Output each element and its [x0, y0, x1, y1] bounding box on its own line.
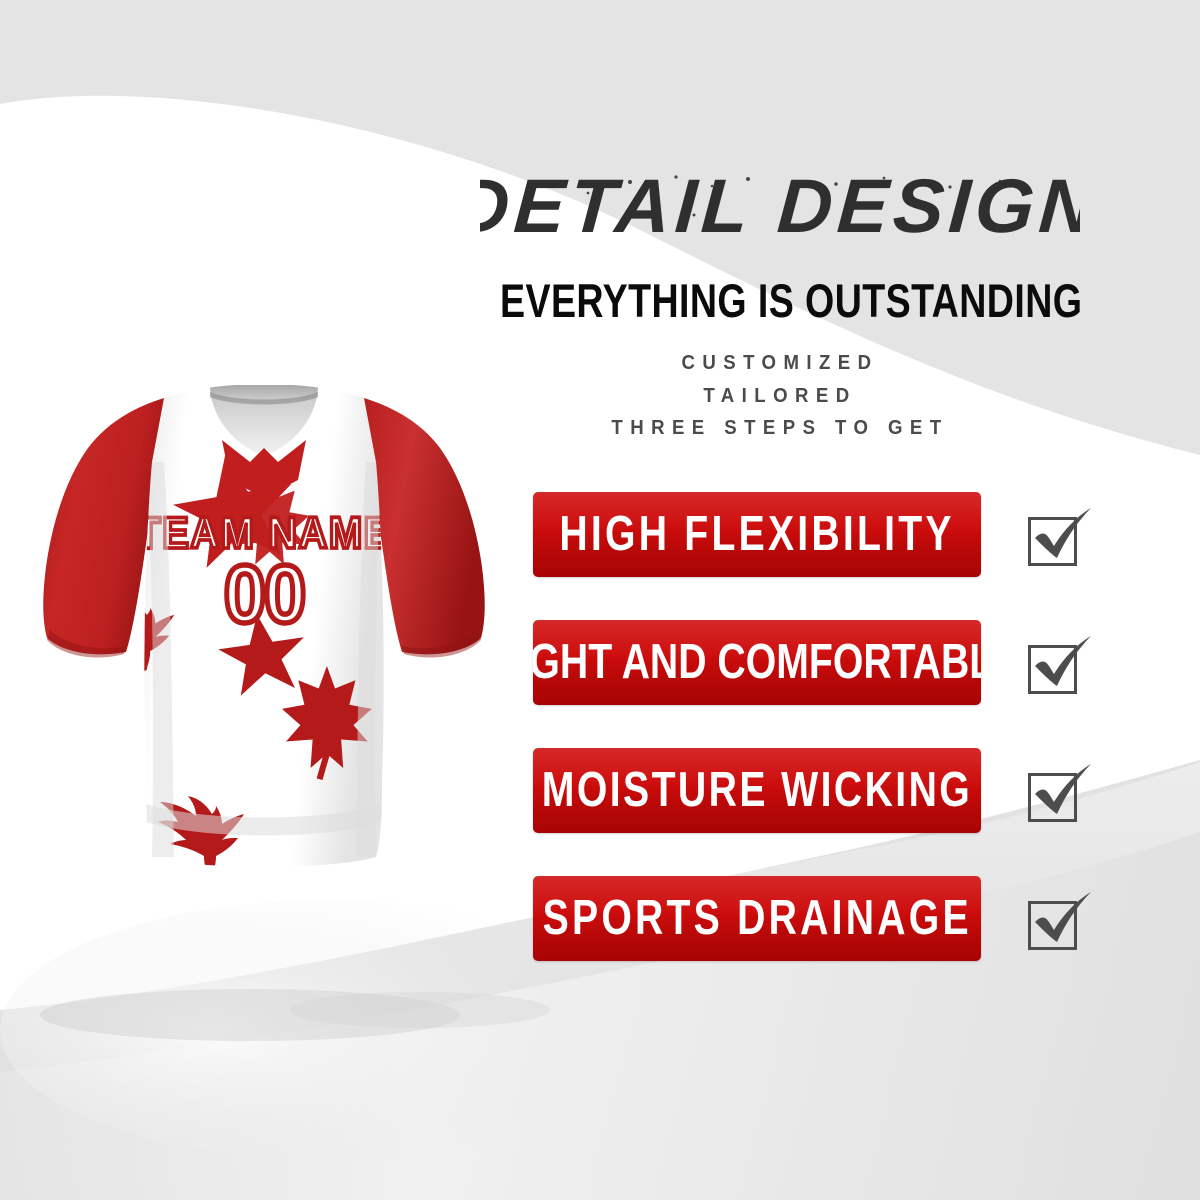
- feature-bar-moisture-wicking[interactable]: MOISTURE WICKING: [533, 748, 981, 833]
- feature-row-high-flexibility: HIGH FLEXIBILITY: [533, 491, 1093, 577]
- product-detail-banner: TEAM NAME 00: [0, 0, 1200, 1200]
- page-title: DETAIL DESIGN: [480, 164, 1080, 249]
- tagline-block: CUSTOMIZED TAILORED THREE STEPS TO GET: [455, 347, 1106, 444]
- feature-label: SPORTS DRAINAGE: [542, 890, 971, 946]
- page-subtitle: EVERYTHING IS OUTSTANDING: [500, 276, 1060, 325]
- tagline-line-1: CUSTOMIZED: [455, 347, 1106, 379]
- page-title-row: DETAIL DESIGN: [430, 160, 1130, 270]
- checkmark-icon-moisture-wicking[interactable]: [1021, 754, 1093, 826]
- feature-bar-high-flexibility[interactable]: HIGH FLEXIBILITY: [533, 492, 981, 577]
- feature-row-light-and-comfortable: LIGHT AND COMFORTABLE: [533, 619, 1093, 705]
- feature-row-moisture-wicking: MOISTURE WICKING: [533, 747, 1093, 833]
- checkmark-icon-high-flexibility[interactable]: [1021, 498, 1093, 570]
- feature-label: MOISTURE WICKING: [542, 762, 972, 818]
- feature-row-sports-drainage: SPORTS DRAINAGE: [533, 875, 1093, 961]
- tagline-line-3: THREE STEPS TO GET: [455, 412, 1106, 444]
- feature-list: HIGH FLEXIBILITY LIGHT AND COMFORTABLE: [533, 491, 1093, 961]
- feature-label: LIGHT AND COMFORTABLE: [533, 634, 981, 690]
- checkmark-icon-sports-drainage[interactable]: [1021, 882, 1093, 954]
- header-block: DETAIL DESIGN EVERYTHING IS OUTSTANDING: [430, 160, 1130, 445]
- feature-label: HIGH FLEXIBILITY: [559, 506, 954, 562]
- jersey-number: 00: [224, 547, 305, 639]
- tagline-line-2: TAILORED: [455, 380, 1106, 412]
- checkmark-icon-light-and-comfortable[interactable]: [1021, 626, 1093, 698]
- feature-bar-light-and-comfortable[interactable]: LIGHT AND COMFORTABLE: [533, 620, 981, 705]
- feature-bar-sports-drainage[interactable]: SPORTS DRAINAGE: [533, 876, 981, 961]
